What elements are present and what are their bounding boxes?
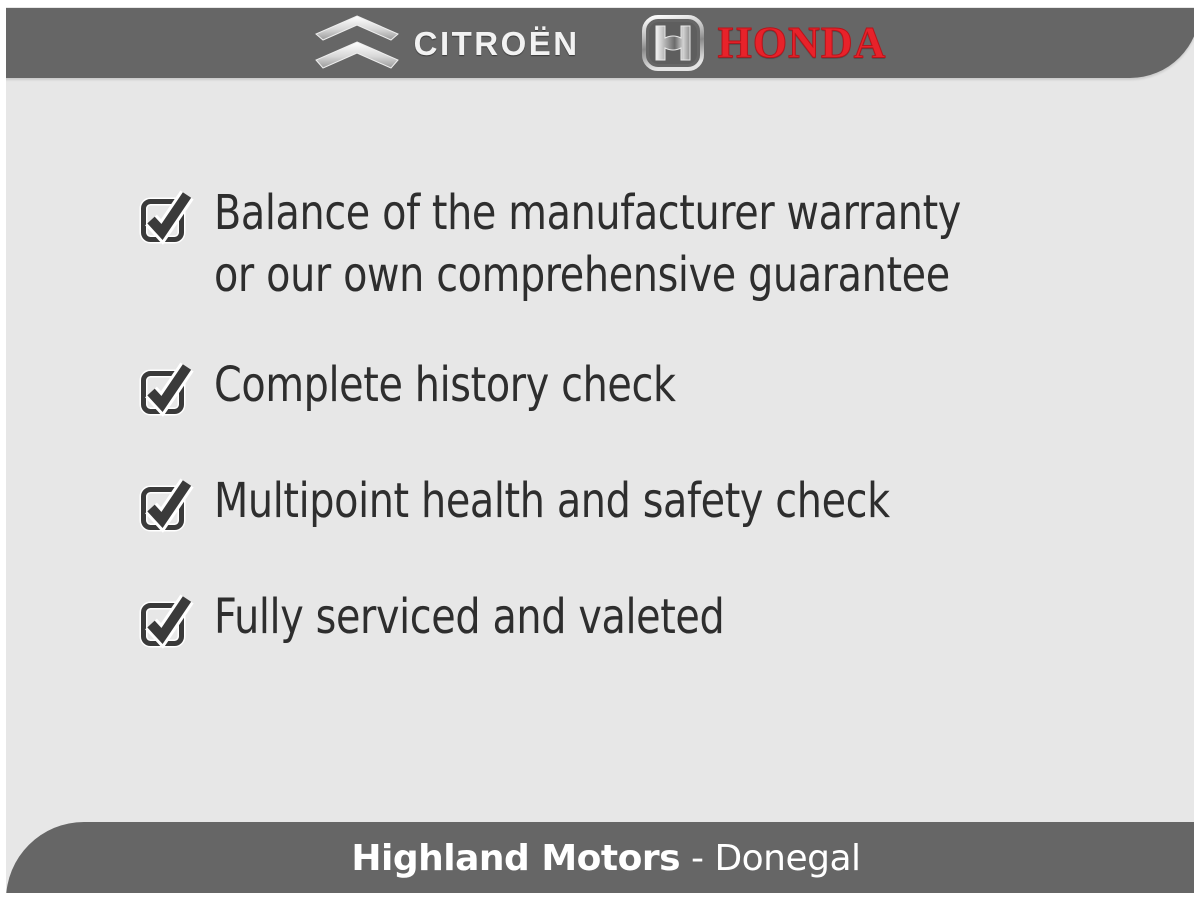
list-item: Fully serviced and valeted xyxy=(138,587,1098,655)
checkbox-checked-icon xyxy=(138,587,214,655)
dealer-separator: - xyxy=(680,838,714,879)
dealer-footer-bar: Highland Motors - Donegal xyxy=(6,822,1200,900)
checkbox-checked-icon xyxy=(138,471,214,539)
honda-h-emblem-icon xyxy=(642,15,704,71)
brand-header-bar: CITROËN xyxy=(0,8,1200,78)
honda-wordmark: HONDA xyxy=(718,21,887,65)
dealer-location: Donegal xyxy=(714,838,860,879)
feature-text: Multipoint health and safety check xyxy=(214,471,890,533)
checkbox-checked-icon xyxy=(138,355,214,423)
list-item: Complete history check xyxy=(138,355,1098,423)
feature-text: Balance of the manufacturer warranty or … xyxy=(214,183,961,307)
dealer-promo-poster: CITROËN xyxy=(0,0,1200,900)
honda-logo-group: HONDA xyxy=(642,15,887,71)
feature-text: Fully serviced and valeted xyxy=(214,587,724,649)
list-item: Multipoint health and safety check xyxy=(138,471,1098,539)
dealer-name-line: Highland Motors - Donegal xyxy=(351,841,860,881)
citroen-wordmark: CITROËN xyxy=(414,27,580,60)
feature-text: Complete history check xyxy=(214,355,676,417)
checkbox-checked-icon xyxy=(138,183,214,251)
dealer-name: Highland Motors xyxy=(351,838,680,879)
citroen-double-chevron-icon xyxy=(314,14,400,72)
feature-list: Balance of the manufacturer warranty or … xyxy=(138,183,1098,655)
list-item: Balance of the manufacturer warranty or … xyxy=(138,183,1098,307)
citroen-logo-group: CITROËN xyxy=(314,14,580,72)
